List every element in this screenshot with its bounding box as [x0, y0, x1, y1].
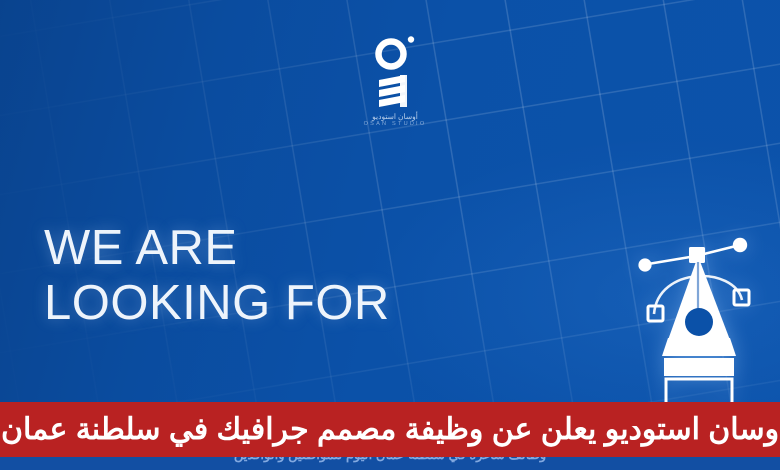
headline-line-1: WE ARE — [44, 222, 390, 275]
logo-wordmark-arabic: أوسان استوديو — [352, 113, 438, 121]
studio-logo: أوسان استوديو OSAN STUDIO — [352, 34, 438, 138]
bottom-caption-strip: وظائف شاغرة في سلطنة عمان اليوم للمواطني… — [0, 457, 780, 470]
dot-icon — [408, 36, 414, 42]
handle-line-left — [648, 257, 690, 264]
bottom-caption-text: وظائف شاغرة في سلطنة عمان اليوم للمواطني… — [234, 457, 546, 461]
announcement-banner-text: وسان استوديو يعلن عن وظيفة مصمم جرافيك ف… — [0, 415, 780, 445]
ring-circle-icon — [379, 42, 404, 67]
pen-tool-icon — [612, 222, 780, 407]
headline: WE ARE LOOKING FOR — [44, 222, 390, 330]
logo-mark-icon — [367, 34, 423, 112]
handle-circle-right — [733, 238, 747, 252]
logo-wordmark-english: OSAN STUDIO — [352, 122, 438, 128]
handle-circle-left — [638, 258, 651, 271]
announcement-banner: وسان استوديو يعلن عن وظيفة مصمم جرافيك ف… — [0, 402, 780, 457]
pen-nib-shoulder — [662, 338, 736, 356]
job-announcement-poster: أوسان استوديو OSAN STUDIO WE ARE LOOKING… — [0, 0, 780, 470]
headline-line-2: LOOKING FOR — [44, 277, 390, 330]
stacked-bars-s-mark-icon — [379, 75, 407, 107]
pen-nib-hole — [685, 308, 713, 336]
handle-line-right — [704, 246, 736, 254]
pen-ferrule — [664, 358, 734, 376]
